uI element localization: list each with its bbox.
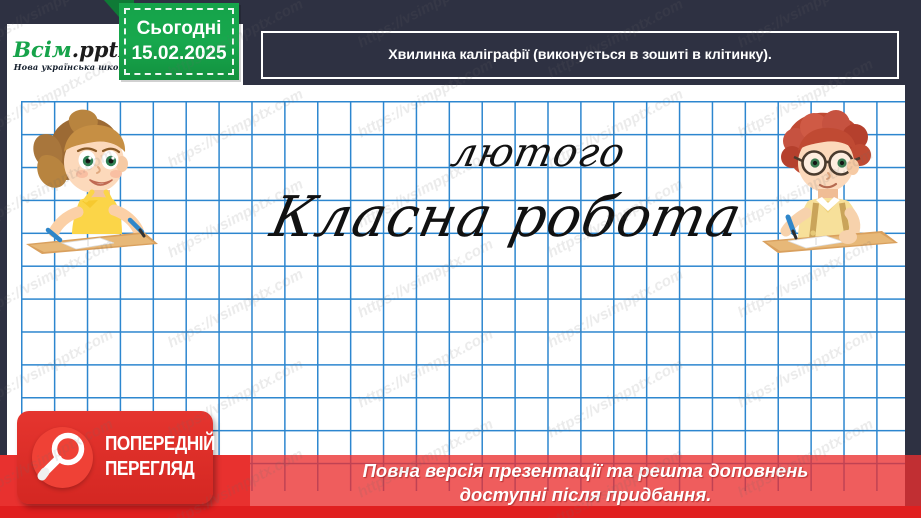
presentation-slide: Хвилинка каліграфії (виконується в зошит… <box>0 0 921 518</box>
handwriting-class-work: Класна робота <box>265 185 748 250</box>
brand-logo-text: Всім.pptx <box>13 39 130 60</box>
magnifier-icon <box>32 427 93 488</box>
boy-writing-illustration <box>752 105 902 255</box>
page-title: Хвилинка каліграфії (виконується в зошит… <box>388 47 771 63</box>
date-badge-today-label: Сьогодні <box>137 17 222 41</box>
header-title-box: Хвилинка каліграфії (виконується в зошит… <box>261 31 899 79</box>
date-badge-date: 15.02.2025 <box>131 42 226 66</box>
preview-label-line-1: ПОПЕРЕДНІЙ <box>105 432 194 457</box>
preview-button[interactable]: ПОПЕРЕДНІЙ ПЕРЕГЛЯД <box>17 411 213 504</box>
brand-subtitle: Нова українська школа <box>14 62 131 72</box>
preview-button-labels: ПОПЕРЕДНІЙ ПЕРЕГЛЯД <box>105 432 209 482</box>
handwriting-month: лютого <box>447 130 630 176</box>
date-badge: Сьогодні 15.02.2025 <box>119 3 239 80</box>
girl-writing-illustration <box>18 104 158 254</box>
banner-bottom-strip <box>0 506 921 518</box>
banner-line-2: доступні після придбання. <box>460 483 712 507</box>
banner-line-1: Повна версія презентації та решта доповн… <box>363 459 809 483</box>
preview-label-line-2: ПЕРЕГЛЯД <box>105 457 194 482</box>
brand-name-first: Всім <box>13 37 71 62</box>
brand-logo: Всім.pptx Нова українська школа <box>7 24 137 86</box>
purchase-banner: Повна версія презентації та решта доповн… <box>250 455 921 510</box>
